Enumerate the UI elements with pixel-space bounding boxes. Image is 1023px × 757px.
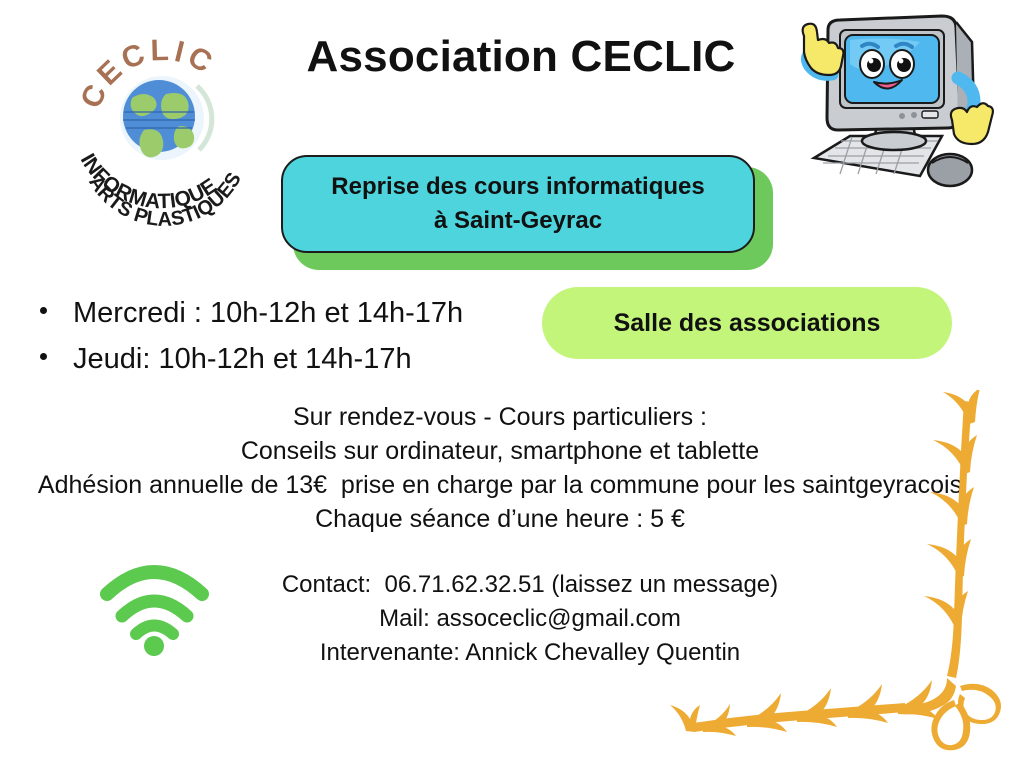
globe-icon: [120, 76, 212, 160]
schedule-item-label: Jeudi: 10h-12h et 14h-17h: [73, 336, 412, 382]
contact-phone-line: Contact: 06.71.62.32.51 (laissez un mess…: [230, 568, 830, 602]
ceclic-logo: CECLIC INFORMA: [62, 26, 262, 226]
ceclic-logo-graphic: CECLIC INFORMA: [62, 26, 262, 226]
info-paragraph: Sur rendez-vous - Cours particuliers : C…: [0, 400, 1000, 536]
wifi-dot: [144, 636, 164, 656]
wifi-icon: [97, 558, 212, 658]
contact-instructor-line: Intervenante: Annick Chevalley Quentin: [230, 636, 830, 670]
contact-mail-line: Mail: assoceclic@gmail.com: [230, 602, 830, 636]
course-banner-line-1: Reprise des cours informatiques: [331, 170, 704, 204]
course-banner-body: Reprise des cours informatiques à Saint-…: [281, 155, 755, 253]
info-line-4: Chaque séance d’une heure : 5 €: [0, 502, 1000, 536]
computer-mascot-icon: [792, 8, 1007, 203]
screen-face: [845, 35, 939, 103]
bullet-icon: [40, 307, 47, 314]
info-line-3: Adhésion annuelle de 13€ prise en charge…: [0, 468, 1000, 502]
bullet-icon: [40, 353, 47, 360]
list-item: Jeudi: 10h-12h et 14h-17h: [40, 336, 463, 382]
wifi-icon-graphic: [97, 558, 212, 658]
mouse-icon: [928, 154, 972, 186]
schedule-list: Mercredi : 10h-12h et 14h-17h Jeudi: 10h…: [40, 290, 463, 382]
info-line-2: Conseils sur ordinateur, smartphone et t…: [0, 434, 1000, 468]
info-line-1: Sur rendez-vous - Cours particuliers :: [0, 400, 1000, 434]
course-banner: Reprise des cours informatiques à Saint-…: [281, 155, 773, 270]
poster-canvas: CECLIC INFORMA: [0, 0, 1023, 752]
contact-block: Contact: 06.71.62.32.51 (laissez un mess…: [230, 568, 830, 670]
course-banner-line-2: à Saint-Geyrac: [434, 204, 602, 238]
computer-mascot-graphic: [792, 8, 1007, 203]
schedule-item-label: Mercredi : 10h-12h et 14h-17h: [73, 290, 463, 336]
page-title: Association CECLIC: [286, 32, 756, 82]
list-item: Mercredi : 10h-12h et 14h-17h: [40, 290, 463, 336]
room-badge-label: Salle des associations: [614, 309, 881, 338]
room-badge: Salle des associations: [542, 287, 952, 359]
